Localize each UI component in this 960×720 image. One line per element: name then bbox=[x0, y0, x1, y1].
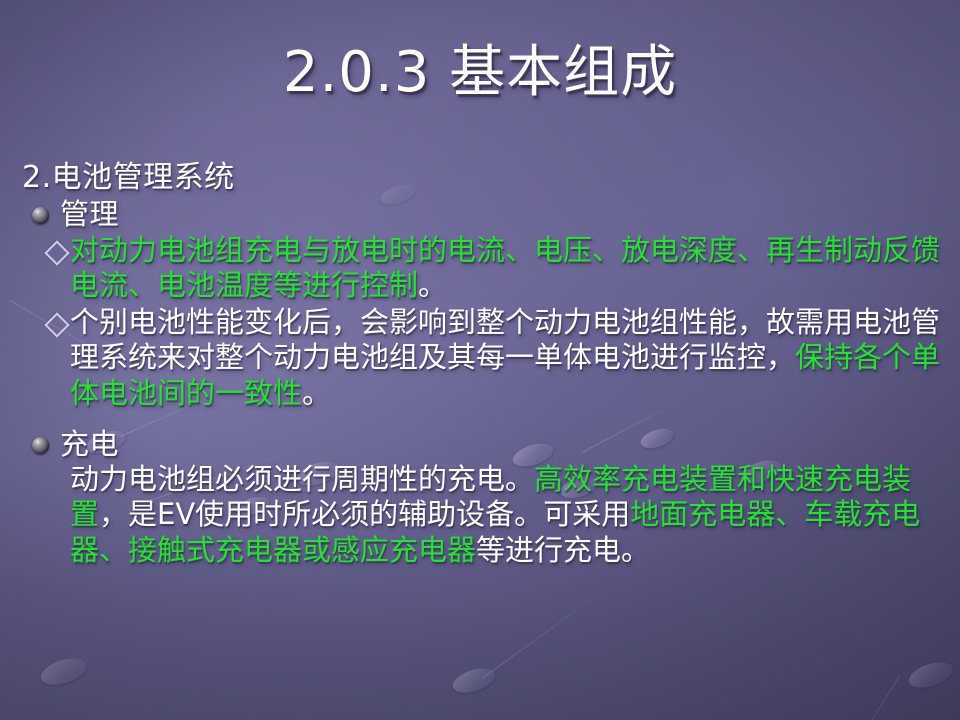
sphere-bullet-icon bbox=[32, 437, 49, 454]
spacer bbox=[22, 413, 944, 427]
page-title: 2.0.3 基本组成 bbox=[283, 44, 677, 103]
diamond-bullet-icon bbox=[44, 240, 69, 265]
body-heading-label: 电池管理系统 bbox=[52, 160, 235, 195]
run-white: 可采用 bbox=[543, 497, 630, 531]
slide-title-area: 2.0.3 基本组成 bbox=[0, 44, 960, 103]
body-heading-number: 2. bbox=[22, 160, 52, 195]
run-white: 。 bbox=[418, 268, 447, 302]
section-paragraph-charging: 动力电池组必须进行周期性的充电。高效率充电装置和快速充电装置，是EV使用时所必须… bbox=[22, 462, 944, 567]
run-white: ，是EV使用时所必须的辅助设备。 bbox=[99, 497, 543, 531]
section-heading-label: 充电 bbox=[60, 427, 119, 462]
run-white: 等进行充电。 bbox=[476, 533, 650, 567]
run-white: 。 bbox=[302, 376, 331, 410]
section-heading-management: 管理 bbox=[22, 197, 944, 232]
list-item: 对动力电池组充电与放电时的电流、电压、放电深度、再生制动反馈电流、电池温度等进行… bbox=[22, 233, 944, 303]
diamond-bullet-icon bbox=[44, 313, 69, 338]
section-heading-charging: 充电 bbox=[22, 427, 944, 462]
bubble-stem-icon bbox=[836, 675, 900, 720]
bubble-icon bbox=[906, 657, 957, 692]
bubble-icon bbox=[450, 664, 498, 698]
run-white: 动力电池组必须进行周期性的充电。 bbox=[70, 462, 534, 496]
list-item-text: 个别电池性能变化后，会影响到整个动力电池组性能，故需用电池管理系统来对整个动力电… bbox=[70, 305, 944, 410]
section-heading-label: 管理 bbox=[60, 197, 119, 232]
presentation-slide: 2.0.3 基本组成 2.电池管理系统 管理 对动力电池组充电与放电时的电流、电… bbox=[0, 0, 960, 720]
run-green: 对动力电池组充电与放电时的电流、电压、放电深度、再生制动反馈电流、电池温度等进行… bbox=[70, 233, 940, 302]
bubble-stem-icon bbox=[482, 590, 604, 679]
bubble-icon bbox=[38, 653, 91, 690]
slide-body: 2.电池管理系统 管理 对动力电池组充电与放电时的电流、电压、放电深度、再生制动… bbox=[22, 160, 944, 568]
body-heading: 2.电池管理系统 bbox=[22, 160, 944, 195]
sphere-bullet-icon bbox=[32, 207, 49, 224]
list-item: 个别电池性能变化后，会影响到整个动力电池组性能，故需用电池管理系统来对整个动力电… bbox=[22, 305, 944, 410]
list-item-text: 对动力电池组充电与放电时的电流、电压、放电深度、再生制动反馈电流、电池温度等进行… bbox=[70, 233, 944, 303]
